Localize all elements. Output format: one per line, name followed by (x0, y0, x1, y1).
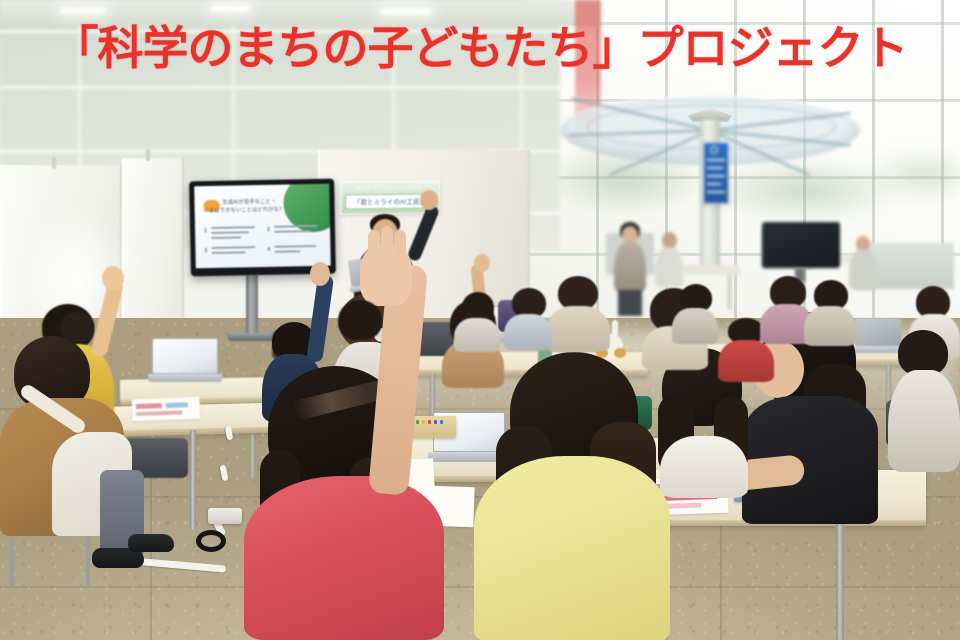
laptop-left (148, 338, 222, 384)
girl-finger (368, 230, 380, 254)
slide-heading-line2: いまはできないことはどれかな？ (204, 207, 285, 215)
page-title: 「科学のまちの子どもたち」プロジェクト (0, 14, 960, 76)
display-stand (246, 275, 258, 337)
child-hair-dark (338, 300, 382, 340)
slide-heading-line1: 生成AIが苦手なこと・ (222, 199, 276, 206)
child-white-shirt (660, 436, 748, 498)
wayfinding-sign (703, 142, 729, 204)
slide-item-index-4: 4 (267, 247, 270, 253)
table-leg (836, 520, 844, 640)
woman-yellow-sweater (474, 456, 670, 640)
presentation-display: 生成AIが苦手なこと・ いまはできないことはどれかな？ 1 2 3 4 (189, 179, 336, 277)
slide-item-index-1: 1 (204, 228, 207, 234)
girl-finger (394, 230, 406, 256)
adult-hair-center (558, 276, 598, 310)
background-monitor (762, 222, 840, 268)
girl-sweater (244, 476, 444, 640)
adult-beige-center (546, 276, 612, 350)
power-strip (208, 508, 242, 524)
child-raised-hand-yellow (102, 266, 124, 290)
participant-far-left-back (50, 312, 104, 374)
adult-beige-top (546, 306, 610, 352)
presentation-slide: 生成AIが苦手なこと・ いまはできないことはどれかな？ 1 2 3 4 (194, 184, 331, 269)
slide-item-index-2: 2 (267, 227, 270, 233)
participant-mid-right-2 (804, 280, 858, 344)
girl-finger (381, 226, 393, 254)
child-raised-hand-brown (474, 254, 490, 272)
cable-coil (196, 530, 226, 552)
child-red-top (718, 340, 774, 382)
slide-item-index-3: 3 (204, 248, 207, 254)
participant-center-back-3 (672, 284, 720, 342)
table-leg (190, 430, 196, 530)
woman-yellow-top (474, 352, 674, 640)
participant-right-near (888, 330, 960, 470)
photo-scene: 生成AIが苦手なこと・ いまはできないことはどれかな？ 1 2 3 4 SEIK… (0, 0, 960, 640)
participant-center-back-2 (504, 288, 554, 348)
presenter-raised-hand (420, 190, 438, 210)
handout-left-table (132, 397, 201, 421)
shoe-right (128, 534, 174, 552)
foreground-girl-raising-hand (244, 366, 464, 640)
event-banner-main-line: 「君とミライのAI工房」 (354, 197, 426, 207)
participant-center-back-1 (454, 292, 502, 350)
child-raised-hand (310, 262, 330, 286)
child-darkhair-left (330, 300, 390, 372)
